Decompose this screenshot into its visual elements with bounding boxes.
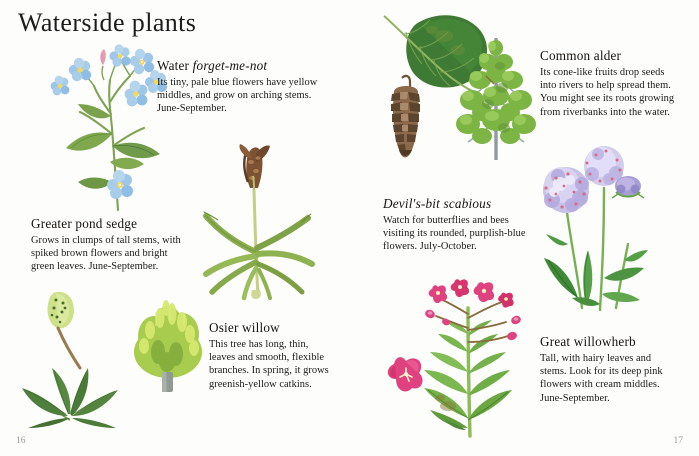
entry-name: Water forget-me-not	[157, 58, 347, 74]
entry-description: Watch for butterflies and bees visiting …	[383, 214, 558, 254]
common-alder-illustration	[374, 8, 539, 163]
entry-devils-bit-scabious: Devil's-bit scabious Watch for butterfli…	[383, 196, 558, 254]
osier-willow-illustration	[18, 288, 213, 428]
page-number-right: 17	[674, 436, 684, 446]
entry-osier-willow: Osier willow This tree has long, thin, l…	[209, 320, 359, 391]
entry-description: This tree has long, thin, leaves and smo…	[209, 338, 359, 391]
book-spread: Waterside plants	[0, 0, 699, 456]
entry-common-alder: Common alder Its cone-like fruits drop s…	[540, 48, 699, 119]
entry-description: Its tiny, pale blue flowers have yellow …	[157, 76, 347, 116]
entry-name: Great willowherb	[540, 334, 699, 350]
page-title: Waterside plants	[18, 8, 196, 38]
entry-name: Greater pond sedge	[31, 216, 221, 232]
entry-description: Its cone-like fruits drop seeds into riv…	[540, 66, 699, 119]
entry-name: Common alder	[540, 48, 699, 64]
entry-name: Osier willow	[209, 320, 359, 336]
entry-great-willowherb: Great willowherb Tall, with hairy leaves…	[540, 334, 699, 405]
page-number-left: 16	[16, 436, 26, 446]
entry-name: Devil's-bit scabious	[383, 196, 558, 212]
great-willowherb-illustration	[388, 278, 533, 438]
entry-description: Grows in clumps of tall stems, with spik…	[31, 234, 221, 274]
entry-greater-pond-sedge: Greater pond sedge Grows in clumps of ta…	[31, 216, 221, 274]
entry-water-forget-me-not: Water forget-me-not Its tiny, pale blue …	[157, 58, 347, 116]
entry-description: Tall, with hairy leaves and stems. Look …	[540, 352, 699, 405]
